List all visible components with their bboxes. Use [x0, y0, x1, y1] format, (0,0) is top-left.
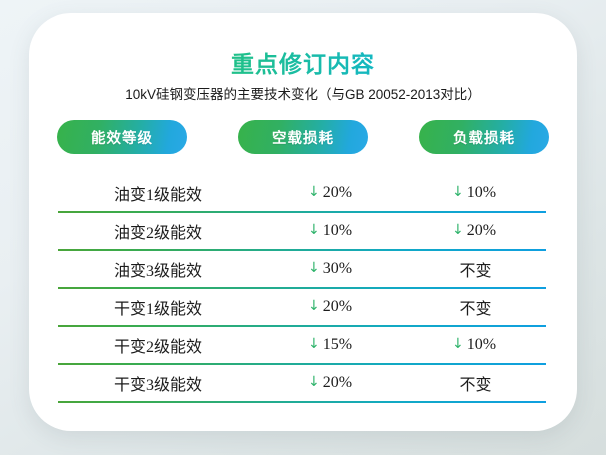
row-no-load-value: ↓20%	[258, 298, 402, 316]
row-grade-label: 干变2级能效	[58, 333, 258, 357]
arrow-down-icon: ↓	[308, 336, 320, 352]
row-no-load-value: ↓15%	[258, 336, 402, 354]
table-row: 油变2级能效 ↓10% ↓20%	[58, 213, 546, 249]
row-load-value: ↓10%	[402, 336, 546, 354]
row-no-load-text: 30%	[323, 260, 352, 277]
arrow-down-icon: ↓	[308, 184, 320, 200]
row-load-text: 不变	[459, 263, 491, 280]
table-row: 干变2级能效 ↓15% ↓10%	[58, 327, 546, 363]
page-title: 重点修订内容	[29, 45, 577, 79]
row-no-load-value: ↓20%	[258, 374, 402, 392]
row-load-value: 不变	[402, 257, 546, 281]
column-header-row: 能效等级 空载损耗 负载损耗	[57, 120, 549, 154]
row-divider	[58, 401, 546, 403]
row-load-value: ↓20%	[402, 222, 546, 240]
content-card: 重点修订内容 10kV硅钢变压器的主要技术变化（与GB 20052-2013对比…	[29, 13, 577, 431]
table-row: 油变3级能效 ↓30% 不变	[58, 251, 546, 287]
row-grade-label: 油变3级能效	[58, 257, 258, 281]
row-grade-label: 干变3级能效	[58, 371, 258, 395]
row-load-text: 不变	[459, 301, 491, 318]
row-load-value: 不变	[402, 295, 546, 319]
row-no-load-value: ↓30%	[258, 260, 402, 278]
row-load-text: 10%	[467, 184, 496, 201]
row-no-load-text: 20%	[323, 374, 352, 391]
arrow-down-icon: ↓	[452, 336, 464, 352]
arrow-down-icon: ↓	[308, 260, 320, 276]
arrow-down-icon: ↓	[308, 298, 320, 314]
row-grade-label: 油变1级能效	[58, 181, 258, 205]
row-no-load-text: 10%	[323, 222, 352, 239]
row-grade-label: 油变2级能效	[58, 219, 258, 243]
page-root: 重点修订内容 10kV硅钢变压器的主要技术变化（与GB 20052-2013对比…	[0, 0, 606, 455]
row-load-value: ↓10%	[402, 184, 546, 202]
table-row: 油变1级能效 ↓20% ↓10%	[58, 175, 546, 211]
row-load-value: 不变	[402, 371, 546, 395]
table-row: 干变3级能效 ↓20% 不变	[58, 365, 546, 401]
row-no-load-text: 20%	[323, 184, 352, 201]
arrow-down-icon: ↓	[452, 184, 464, 200]
row-load-text: 10%	[467, 336, 496, 353]
table-row: 干变1级能效 ↓20% 不变	[58, 289, 546, 325]
row-grade-label: 干变1级能效	[58, 295, 258, 319]
page-subtitle: 10kV硅钢变压器的主要技术变化（与GB 20052-2013对比）	[29, 83, 577, 103]
arrow-down-icon: ↓	[452, 222, 464, 238]
row-no-load-text: 15%	[323, 336, 352, 353]
card-inner: 重点修订内容 10kV硅钢变压器的主要技术变化（与GB 20052-2013对比…	[29, 13, 577, 431]
arrow-down-icon: ↓	[308, 374, 320, 390]
row-no-load-value: ↓10%	[258, 222, 402, 240]
column-header-load-loss: 负载损耗	[419, 120, 549, 154]
row-no-load-text: 20%	[323, 298, 352, 315]
column-header-no-load-loss: 空载损耗	[238, 120, 368, 154]
row-load-text: 不变	[459, 377, 491, 394]
arrow-down-icon: ↓	[308, 222, 320, 238]
row-load-text: 20%	[467, 222, 496, 239]
revision-table: 油变1级能效 ↓20% ↓10% 油变2级能效 ↓10% ↓20% 油变3级能效…	[58, 175, 546, 403]
column-header-efficiency-grade: 能效等级	[57, 120, 187, 154]
row-no-load-value: ↓20%	[258, 184, 402, 202]
